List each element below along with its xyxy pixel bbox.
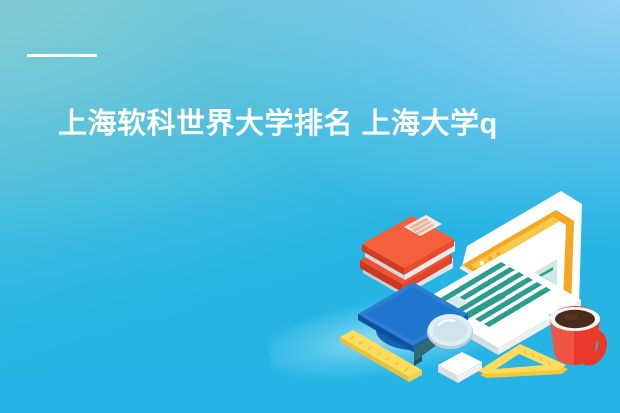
coffee-mug-icon xyxy=(550,306,603,365)
page-title: 上海软科世界大学排名 上海大学q xyxy=(58,104,618,144)
accent-rule xyxy=(27,54,97,57)
education-illustration xyxy=(310,180,620,413)
banner-card: 上海软科世界大学排名 上海大学q xyxy=(0,0,620,413)
eraser-icon xyxy=(438,352,482,383)
book-stack-icon xyxy=(360,215,455,296)
